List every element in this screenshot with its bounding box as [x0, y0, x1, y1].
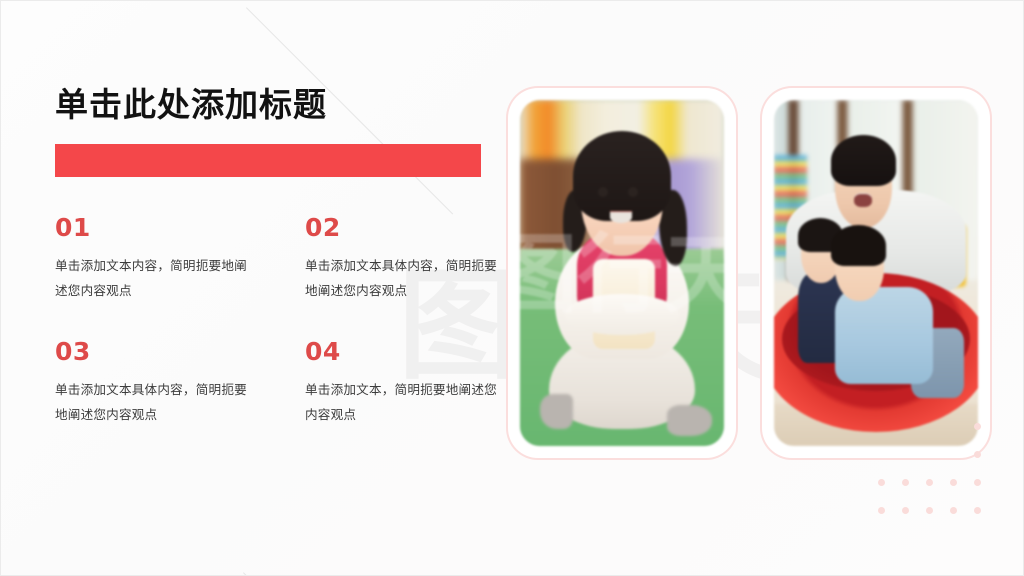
bullet-grid: 01 单击添加文本内容，简明扼要地阐述您内容观点 02 单击添加文本具体内容，简… — [55, 215, 495, 427]
photo2-teacher-hair — [831, 135, 896, 187]
photo2-child2-body — [835, 287, 933, 384]
dot — [902, 479, 909, 486]
title-accent-bar — [55, 144, 481, 177]
content-column: 单击此处添加标题 01 单击添加文本内容，简明扼要地阐述您内容观点 02 单击添… — [55, 86, 495, 427]
item-number: 01 — [55, 215, 305, 240]
item-number: 04 — [305, 339, 515, 364]
dot — [926, 507, 933, 514]
list-item[interactable]: 02 单击添加文本具体内容，简明扼要地阐述您内容观点 — [305, 215, 515, 303]
dot — [926, 479, 933, 486]
photo-girl-on-mat[interactable]: 图行天下 — [520, 100, 724, 446]
photo1-smile — [610, 211, 632, 223]
page-title[interactable]: 单击此处添加标题 — [55, 86, 495, 124]
list-item[interactable]: 01 单击添加文本内容，简明扼要地阐述您内容观点 — [55, 215, 305, 303]
item-body[interactable]: 单击添加文本具体内容，简明扼要地阐述您内容观点 — [55, 377, 247, 427]
photo1-sock-left — [540, 394, 573, 429]
photo2-teacher-smile — [854, 193, 872, 207]
photo1-sock-right — [667, 405, 712, 436]
photo1-eye-right — [628, 187, 638, 197]
item-number: 03 — [55, 339, 305, 364]
photo1-arms — [565, 294, 679, 336]
dot — [902, 507, 909, 514]
dot — [974, 507, 981, 514]
decorative-dot-grid — [878, 423, 978, 515]
list-item[interactable]: 04 单击添加文本，简明扼要地阐述您内容观点 — [305, 339, 515, 427]
photo-teacher-and-kids[interactable] — [774, 100, 978, 446]
item-body[interactable]: 单击添加文本，简明扼要地阐述您内容观点 — [305, 377, 497, 427]
photo2-child2-hair — [831, 225, 886, 267]
dot — [974, 451, 981, 458]
dot — [974, 479, 981, 486]
dot — [878, 507, 885, 514]
slide-canvas: 图行天下 单击此处添加标题 01 单击添加文本内容，简明扼要地阐述您内容观点 0… — [0, 0, 1024, 576]
item-number: 02 — [305, 215, 515, 240]
item-body[interactable]: 单击添加文本内容，简明扼要地阐述您内容观点 — [55, 253, 247, 303]
photo-frame-1[interactable]: 图行天下 — [508, 88, 736, 458]
dot — [950, 507, 957, 514]
item-body[interactable]: 单击添加文本具体内容，简明扼要地阐述您内容观点 — [305, 253, 497, 303]
dot — [950, 479, 957, 486]
photo1-eye-left — [598, 187, 608, 197]
dot — [974, 423, 981, 430]
photo1-hair — [573, 131, 671, 221]
photo-frame-2[interactable] — [762, 88, 990, 458]
watermark-diagonal-line-bottom — [243, 572, 411, 576]
list-item[interactable]: 03 单击添加文本具体内容，简明扼要地阐述您内容观点 — [55, 339, 305, 427]
dot — [878, 479, 885, 486]
